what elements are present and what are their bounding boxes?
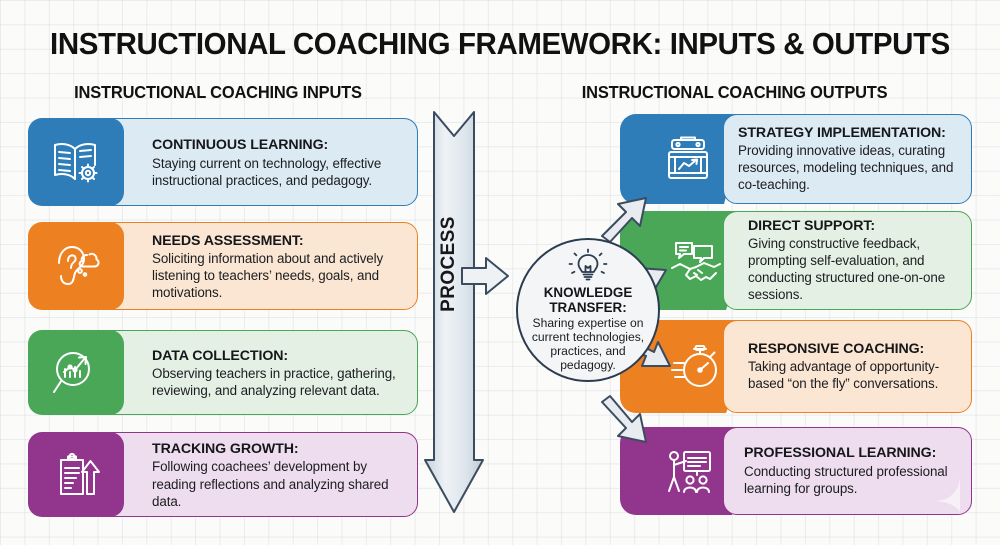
card-icon-block (28, 118, 124, 206)
card-text: NEEDS ASSESSMENT: Soliciting information… (124, 222, 418, 310)
input-card-needs-assessment[interactable]: NEEDS ASSESSMENT: Soliciting information… (28, 222, 418, 310)
card-text: STRATEGY IMPLEMENTATION: Providing innov… (738, 114, 962, 204)
card-description: Providing innovative ideas, curating res… (738, 142, 956, 193)
magnifier-chart-icon (49, 348, 103, 398)
ear-thought-bubble-icon (49, 241, 103, 291)
process-label: PROCESS (438, 209, 460, 319)
lightbulb-icon (568, 248, 608, 284)
input-card-data-collection[interactable]: DATA COLLECTION: Observing teachers in p… (28, 330, 418, 415)
left-column-heading: INSTRUCTIONAL COACHING INPUTS (74, 82, 362, 103)
card-description: Conducting structured professional learn… (744, 463, 956, 497)
card-description: Taking advantage of opportunity-based “o… (748, 358, 956, 392)
process-side-arrow (460, 254, 512, 304)
knowledge-transfer-node[interactable]: KNOWLEDGE TRANSFER: Sharing expertise on… (516, 238, 660, 382)
flow-arrow-1 (602, 198, 646, 242)
input-card-tracking-growth[interactable]: TRACKING GROWTH: Following coachees’ dev… (28, 432, 418, 517)
card-text: CONTINUOUS LEARNING: Staying current on … (124, 118, 418, 206)
card-icon-block (28, 432, 124, 517)
input-card-continuous-learning[interactable]: CONTINUOUS LEARNING: Staying current on … (28, 118, 418, 206)
flow-arrow-4 (602, 396, 646, 442)
right-column-heading: INSTRUCTIONAL COACHING OUTPUTS (582, 82, 888, 103)
open-book-gear-icon (49, 137, 103, 187)
card-title: DIRECT SUPPORT: (748, 218, 956, 234)
card-title: CONTINUOUS LEARNING: (152, 137, 404, 153)
card-icon-block (28, 222, 124, 310)
process-arrow-group: PROCESS (424, 108, 488, 514)
knowledge-transfer-title: KNOWLEDGE TRANSFER: (518, 285, 658, 315)
card-description: Staying current on technology, effective… (152, 155, 404, 189)
card-title: PROFESSIONAL LEARNING: (744, 445, 956, 461)
card-text: DATA COLLECTION: Observing teachers in p… (124, 330, 418, 415)
knowledge-transfer-description: Sharing expertise on current technologie… (518, 316, 658, 372)
card-title: STRATEGY IMPLEMENTATION: (738, 125, 956, 141)
card-text: RESPONSIVE COACHING: Taking advantage of… (748, 320, 962, 413)
card-text: TRACKING GROWTH: Following coachees’ dev… (124, 432, 418, 517)
card-description: Following coachees’ development by readi… (152, 458, 404, 509)
card-title: NEEDS ASSESSMENT: (152, 233, 404, 249)
card-text: DIRECT SUPPORT: Giving constructive feed… (748, 211, 962, 310)
card-title: DATA COLLECTION: (152, 348, 404, 364)
card-description: Giving constructive feedback, prompting … (748, 235, 956, 304)
clipboard-arrow-up-icon (49, 450, 103, 500)
card-text: PROFESSIONAL LEARNING: Conducting struct… (744, 427, 962, 515)
card-title: RESPONSIVE COACHING: (748, 341, 956, 357)
card-title: TRACKING GROWTH: (152, 441, 404, 457)
page-title: INSTRUCTIONAL COACHING FRAMEWORK: INPUTS… (25, 26, 975, 62)
infographic-canvas: INSTRUCTIONAL COACHING FRAMEWORK: INPUTS… (0, 0, 1000, 545)
card-description: Observing teachers in practice, gatherin… (152, 365, 404, 399)
card-description: Soliciting information about and activel… (152, 250, 404, 301)
card-icon-block (28, 330, 124, 415)
